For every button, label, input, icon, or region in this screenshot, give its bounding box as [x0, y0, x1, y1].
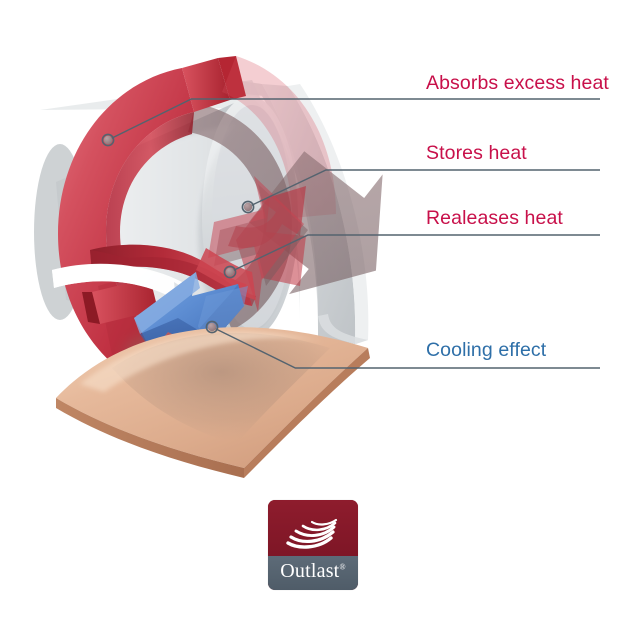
anchor-dot-fill-stores	[244, 203, 252, 211]
anchor-dot-fill-cooling	[208, 323, 216, 331]
anchor-dot-fill-releases	[226, 268, 234, 276]
diagram-canvas: Absorbs excess heat Stores heat Realease…	[0, 0, 625, 625]
swoosh-stripes-icon	[284, 516, 342, 552]
logo-top-panel	[268, 500, 358, 556]
logo-wordmark-text: Outlast	[280, 560, 339, 582]
logo-bottom-panel: Outlast®	[268, 556, 358, 590]
logo-wordmark: Outlast®	[280, 560, 345, 583]
callout-label-absorbs-excess-heat: Absorbs excess heat	[426, 74, 609, 94]
anchor-dot-fill-absorbs	[104, 136, 112, 144]
registered-trademark-mark: ®	[339, 563, 345, 572]
callout-label-realeases-heat: Realeases heat	[426, 209, 563, 229]
callout-label-cooling-effect: Cooling effect	[426, 341, 546, 361]
callout-label-stores-heat: Stores heat	[426, 144, 527, 164]
outlast-logo: Outlast®	[268, 500, 358, 590]
